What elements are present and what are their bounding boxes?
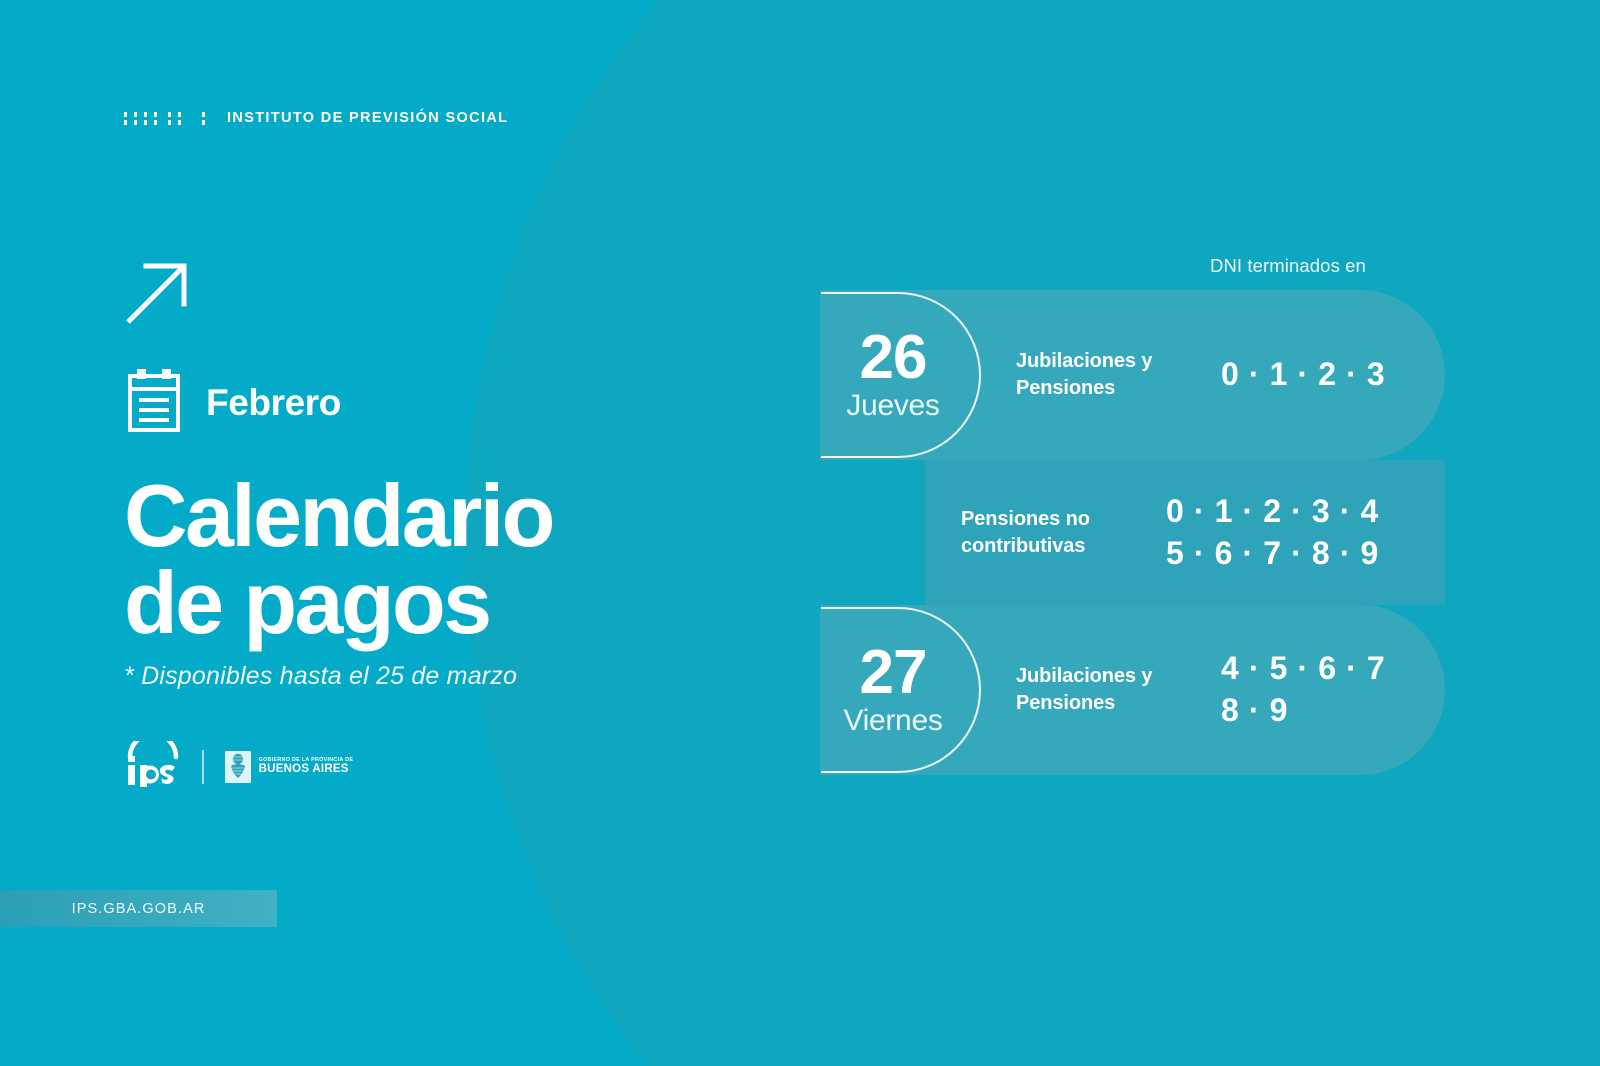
day-number: 26 (860, 329, 927, 388)
benefit-type: Pensiones no contributivas (961, 506, 1166, 560)
schedule-card[interactable]: 26 Jueves Jubilaciones y Pensiones 0 · 1… (820, 290, 1445, 460)
benefit-type: Jubilaciones y Pensiones (1016, 663, 1221, 717)
poster-canvas: INSTITUTO DE PREVISIÓN SOCIAL (0, 0, 1600, 1066)
availability-note: * Disponibles hasta el 25 de marzo (124, 662, 744, 691)
website-url: IPS.GBA.GOB.AR (72, 901, 206, 917)
website-url-bar[interactable]: IPS.GBA.GOB.AR (0, 890, 277, 927)
hero-section: Febrero Calendario de pagos * Disponible… (124, 258, 744, 792)
day-number: 27 (860, 644, 927, 703)
month-row: Febrero (124, 367, 744, 438)
arrow-up-right-icon (124, 258, 744, 331)
card-body: Jubilaciones y Pensiones 0 · 1 · 2 · 3 (980, 348, 1445, 402)
card-body: Pensiones no contributivas 0 · 1 · 2 · 3… (820, 491, 1445, 574)
day-name: Viernes (843, 705, 942, 737)
dni-digits: 0 · 1 · 2 · 3 · 4 5 · 6 · 7 · 8 · 9 (1166, 491, 1379, 574)
card-body: Jubilaciones y Pensiones 4 · 5 · 6 · 7 8… (980, 648, 1445, 731)
header: INSTITUTO DE PREVISIÓN SOCIAL (124, 110, 508, 126)
calendar-icon (124, 367, 184, 438)
buenos-aires-government-logo: GOBIERNO DE LA PROVINCIA DE BUENOS AIRES (224, 750, 354, 784)
dot-grid-icon (124, 112, 205, 125)
card-day: 26 Jueves (820, 329, 980, 421)
ips-logo (124, 741, 182, 792)
page-title-line-2: de pagos (124, 559, 744, 646)
provincia-shield-icon (224, 750, 252, 784)
dni-digits: 0 · 1 · 2 · 3 (1221, 354, 1385, 396)
header-title: INSTITUTO DE PREVISIÓN SOCIAL (227, 110, 508, 126)
buenos-aires-label: BUENOS AIRES (259, 764, 354, 776)
schedule-card[interactable]: Pensiones no contributivas 0 · 1 · 2 · 3… (820, 460, 1445, 605)
benefit-type: Jubilaciones y Pensiones (1016, 348, 1221, 402)
logo-divider (202, 750, 204, 784)
dni-column-label: DNI terminados en (1210, 255, 1366, 277)
schedule-card-list: 26 Jueves Jubilaciones y Pensiones 0 · 1… (820, 290, 1445, 775)
page-title-line-1: Calendario (124, 472, 744, 559)
month-label: Febrero (206, 382, 341, 424)
page-title: Calendario de pagos (124, 472, 744, 646)
dni-digits: 4 · 5 · 6 · 7 8 · 9 (1221, 648, 1385, 731)
logo-row: GOBIERNO DE LA PROVINCIA DE BUENOS AIRES (124, 741, 744, 792)
schedule-card[interactable]: 27 Viernes Jubilaciones y Pensiones 4 · … (820, 605, 1445, 775)
card-day: 27 Viernes (820, 644, 980, 736)
day-name: Jueves (846, 390, 939, 422)
